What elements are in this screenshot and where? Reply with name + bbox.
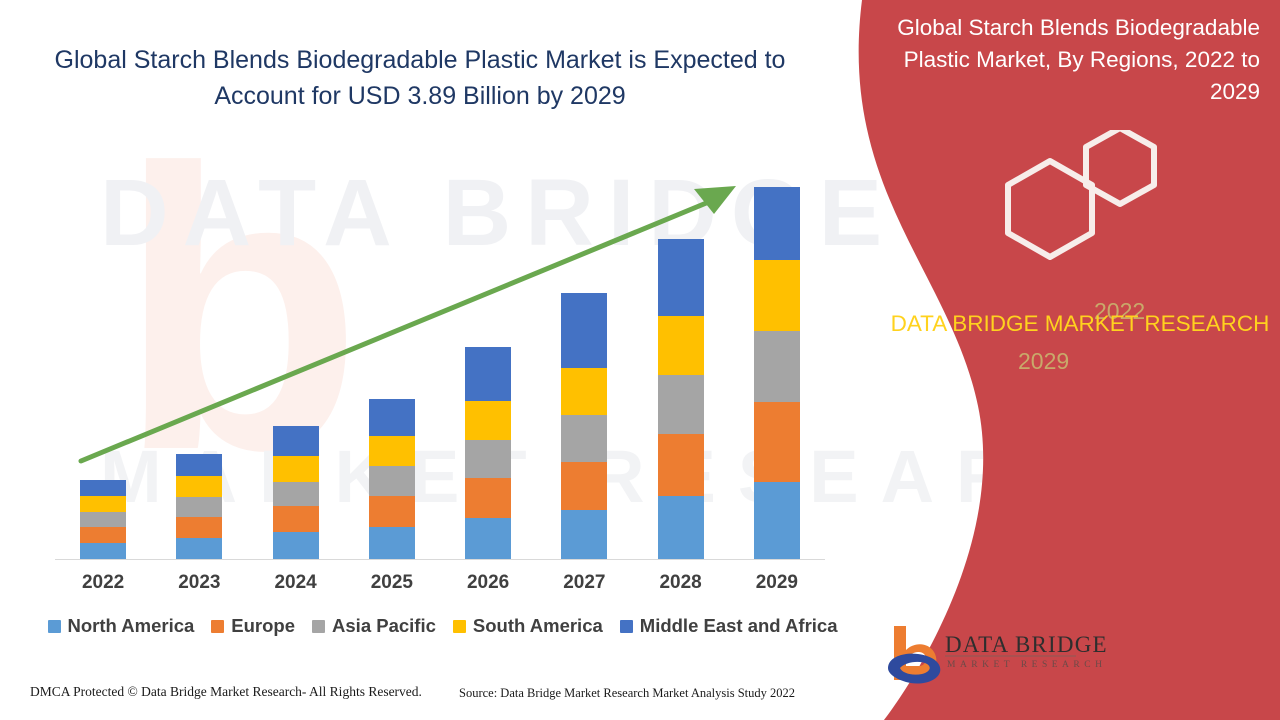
bar-segment[interactable] (465, 440, 511, 478)
stacked-bar[interactable] (465, 347, 511, 559)
bar-column-2029 (729, 171, 825, 559)
stacked-bar-chart (55, 170, 825, 560)
bar-segment[interactable] (754, 187, 800, 260)
bar-segment[interactable] (273, 506, 319, 532)
bar-segment[interactable] (465, 518, 511, 559)
bar-segment[interactable] (176, 454, 222, 476)
stacked-bar[interactable] (754, 187, 800, 559)
x-axis-tick-2027: 2027 (536, 572, 632, 594)
bar-segment[interactable] (658, 239, 704, 316)
bar-segment[interactable] (369, 399, 415, 436)
bar-segment[interactable] (80, 527, 126, 543)
logo-subtitle: MARKET RESEARCH (947, 660, 1106, 670)
bar-segment[interactable] (561, 462, 607, 510)
legend-label: South America (473, 615, 603, 637)
x-axis-tick-2029: 2029 (729, 572, 825, 594)
legend-item-middle-east-and-africa[interactable]: Middle East and Africa (620, 615, 838, 637)
x-axis-tick-2024: 2024 (248, 572, 344, 594)
bar-segment[interactable] (561, 415, 607, 462)
bar-segment[interactable] (273, 532, 319, 559)
bar-segment[interactable] (465, 347, 511, 401)
legend-swatch-icon (211, 620, 224, 633)
x-axis-tick-2023: 2023 (151, 572, 247, 594)
bar-segment[interactable] (658, 375, 704, 434)
logo-mark-icon (888, 626, 940, 684)
bar-segment[interactable] (369, 466, 415, 496)
bar-segment[interactable] (658, 496, 704, 559)
copyright-notice: DMCA Protected © Data Bridge Market Rese… (30, 684, 422, 700)
legend-label: Middle East and Africa (640, 615, 838, 637)
legend-swatch-icon (312, 620, 325, 633)
source-notice: Source: Data Bridge Market Research Mark… (459, 686, 795, 701)
bar-segment[interactable] (754, 402, 800, 482)
panel-content: Global Starch Blends Biodegradable Plast… (880, 0, 1280, 720)
hexagon-2022-shape (1086, 130, 1154, 204)
bar-segment[interactable] (80, 496, 126, 512)
legend-swatch-icon (453, 620, 466, 633)
legend-item-asia-pacific[interactable]: Asia Pacific (312, 615, 436, 637)
bar-segment[interactable] (465, 401, 511, 440)
page-title: Global Starch Blends Biodegradable Plast… (40, 42, 800, 115)
x-axis-labels: 20222023202420252026202720282029 (55, 572, 825, 594)
legend-label: Asia Pacific (332, 615, 436, 637)
bar-column-2024 (248, 171, 344, 559)
bar-segment[interactable] (754, 331, 800, 402)
bar-segment[interactable] (465, 478, 511, 518)
infographic-canvas: b DATA BRIDGE MARKET RESEARCH Global Sta… (0, 0, 1280, 720)
legend-item-europe[interactable]: Europe (211, 615, 295, 637)
bar-segment[interactable] (273, 426, 319, 456)
stacked-bar[interactable] (658, 239, 704, 559)
bar-column-2025 (344, 171, 440, 559)
legend-item-north-america[interactable]: North America (48, 615, 195, 637)
bar-column-2027 (536, 171, 632, 559)
bar-segment[interactable] (754, 482, 800, 559)
legend-swatch-icon (48, 620, 61, 633)
bar-segment[interactable] (176, 497, 222, 517)
chart-legend: North AmericaEuropeAsia PacificSouth Ame… (55, 615, 830, 637)
bar-column-2026 (440, 171, 536, 559)
logo-title: DATA BRIDGE (945, 632, 1108, 658)
legend-label: Europe (231, 615, 295, 637)
bar-segment[interactable] (561, 510, 607, 559)
bar-segment[interactable] (80, 543, 126, 559)
stacked-bar[interactable] (273, 426, 319, 559)
bar-segment[interactable] (273, 482, 319, 506)
company-logo: DATA BRIDGE MARKET RESEARCH (880, 620, 1110, 700)
legend-item-south-america[interactable]: South America (453, 615, 603, 637)
x-axis-line (55, 559, 825, 560)
legend-swatch-icon (620, 620, 633, 633)
bar-segment[interactable] (176, 517, 222, 538)
bar-column-2023 (151, 171, 247, 559)
hexagon-badges: 2022 2029 (880, 130, 1280, 300)
legend-label: North America (68, 615, 195, 637)
stacked-bar[interactable] (176, 454, 222, 559)
bar-segment[interactable] (754, 260, 800, 331)
bar-segment[interactable] (658, 316, 704, 375)
panel-heading: Global Starch Blends Biodegradable Plast… (885, 12, 1270, 108)
stacked-bar[interactable] (369, 399, 415, 559)
bar-segment[interactable] (80, 512, 126, 527)
bar-segment[interactable] (658, 434, 704, 496)
bar-segment[interactable] (273, 456, 319, 482)
x-axis-tick-2025: 2025 (344, 572, 440, 594)
bar-segment[interactable] (176, 538, 222, 559)
hexagon-2029-label: 2029 (1018, 348, 1069, 375)
bar-group (55, 171, 825, 559)
brand-name: DATA BRIDGE MARKET RESEARCH (890, 308, 1270, 340)
hexagon-2029-shape (1008, 161, 1092, 257)
bar-segment[interactable] (176, 476, 222, 497)
bar-segment[interactable] (369, 527, 415, 559)
bar-segment[interactable] (561, 293, 607, 368)
x-axis-tick-2022: 2022 (55, 572, 151, 594)
bar-segment[interactable] (369, 496, 415, 527)
bar-segment[interactable] (561, 368, 607, 415)
bar-column-2022 (55, 171, 151, 559)
stacked-bar[interactable] (561, 293, 607, 559)
x-axis-tick-2028: 2028 (633, 572, 729, 594)
bar-segment[interactable] (369, 436, 415, 466)
stacked-bar[interactable] (80, 480, 126, 559)
x-axis-tick-2026: 2026 (440, 572, 536, 594)
bar-segment[interactable] (80, 480, 126, 496)
bar-column-2028 (633, 171, 729, 559)
